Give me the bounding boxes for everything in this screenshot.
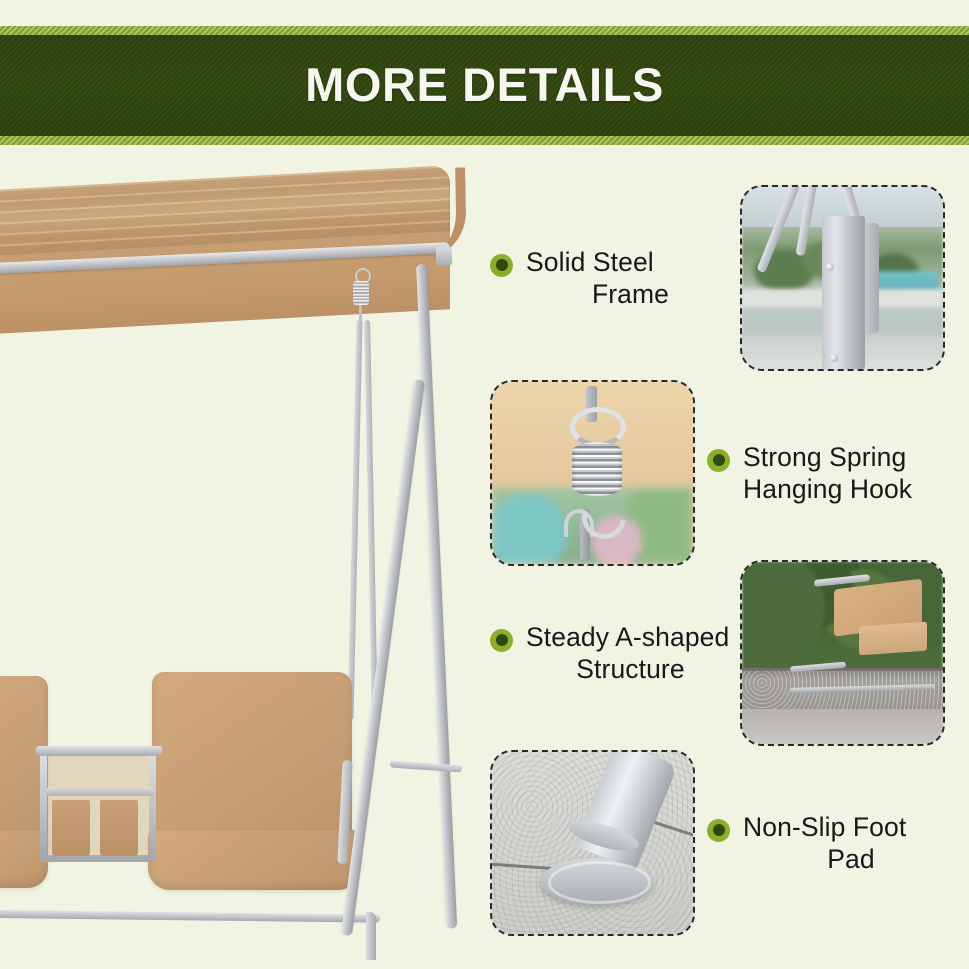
photo-content <box>492 752 693 934</box>
feature-text-line2: Hanging Hook <box>743 473 959 505</box>
feature-text-line2: Pad <box>743 843 959 875</box>
header-banner: MORE DETAILS <box>0 26 969 145</box>
photo-pad-highlight-ring <box>548 861 650 903</box>
bullet-dot-inner <box>496 634 508 646</box>
bullet-dot-inner <box>496 259 508 271</box>
feature-item-strong-spring-hanging-hook: Strong Spring Hanging Hook <box>480 380 969 570</box>
feature-text-line1: Solid Steel <box>526 247 654 277</box>
console-storage-pocket <box>52 800 90 856</box>
page-title: MORE DETAILS <box>305 61 664 110</box>
photo-main-post <box>822 216 864 369</box>
feature-text-line1: Steady A-shaped <box>526 622 729 652</box>
seat-bottom-rail-corner <box>366 912 376 960</box>
steel-frame-joint-photo <box>740 185 945 371</box>
console-crossbar <box>46 787 154 796</box>
bullet-dot-icon <box>490 629 513 652</box>
a-frame-cross-brace <box>390 760 462 772</box>
feature-list: Solid Steel Frame <box>480 160 969 969</box>
feature-item-non-slip-foot-pad: Non-Slip Foot Pad <box>480 750 969 940</box>
hanging-rod-left <box>347 320 362 720</box>
feature-label-steady-a-shaped-structure: Steady A-shaped Structure <box>490 560 735 746</box>
hero-product-image <box>0 160 480 960</box>
seat-bottom-rail <box>0 909 380 922</box>
photo-content <box>742 562 943 744</box>
a-frame-leg-front <box>416 264 457 929</box>
feature-text: Steady A-shaped Structure <box>526 621 735 686</box>
feature-text-line2: Frame <box>526 278 735 310</box>
console-tabletop <box>36 746 162 756</box>
photo-swing-seat-side <box>859 621 927 655</box>
rail-end-cap <box>435 246 452 267</box>
feature-text-line1: Strong Spring <box>743 442 906 472</box>
photo-content <box>742 187 943 369</box>
bullet-dot-icon <box>707 819 730 842</box>
spring-hook-photo <box>490 380 695 566</box>
photo-ground <box>742 709 943 744</box>
hanging-rod-right <box>364 320 378 720</box>
bullet-dot-inner <box>713 824 725 836</box>
bullet-dot-icon <box>490 254 513 277</box>
feature-label-non-slip-foot-pad: Non-Slip Foot Pad <box>707 750 959 936</box>
spring-coil <box>353 281 369 305</box>
feature-label-strong-spring-hanging-hook: Strong Spring Hanging Hook <box>707 380 959 566</box>
seat-cushion-right <box>148 830 360 890</box>
feature-text-line2: Structure <box>526 653 735 685</box>
feature-text: Solid Steel Frame <box>526 246 735 311</box>
a-frame-structure-photo <box>740 560 945 746</box>
photo-spring-coil <box>572 442 622 496</box>
feature-text: Strong Spring Hanging Hook <box>743 441 959 506</box>
hero-spring-hook <box>352 268 370 322</box>
seat-backrest-right <box>152 672 352 848</box>
feature-text: Non-Slip Foot Pad <box>743 811 959 876</box>
feature-item-steady-a-shaped-structure: Steady A-shaped Structure <box>480 560 969 750</box>
bullet-dot-icon <box>707 449 730 472</box>
console-storage-pocket <box>100 800 138 856</box>
bullet-dot-inner <box>713 454 725 466</box>
feature-label-solid-steel-frame: Solid Steel Frame <box>490 185 735 371</box>
feature-item-solid-steel-frame: Solid Steel Frame <box>480 185 969 375</box>
photo-content <box>492 382 693 564</box>
foot-pad-photo <box>490 750 695 936</box>
feature-text-line1: Non-Slip Foot <box>743 812 906 842</box>
